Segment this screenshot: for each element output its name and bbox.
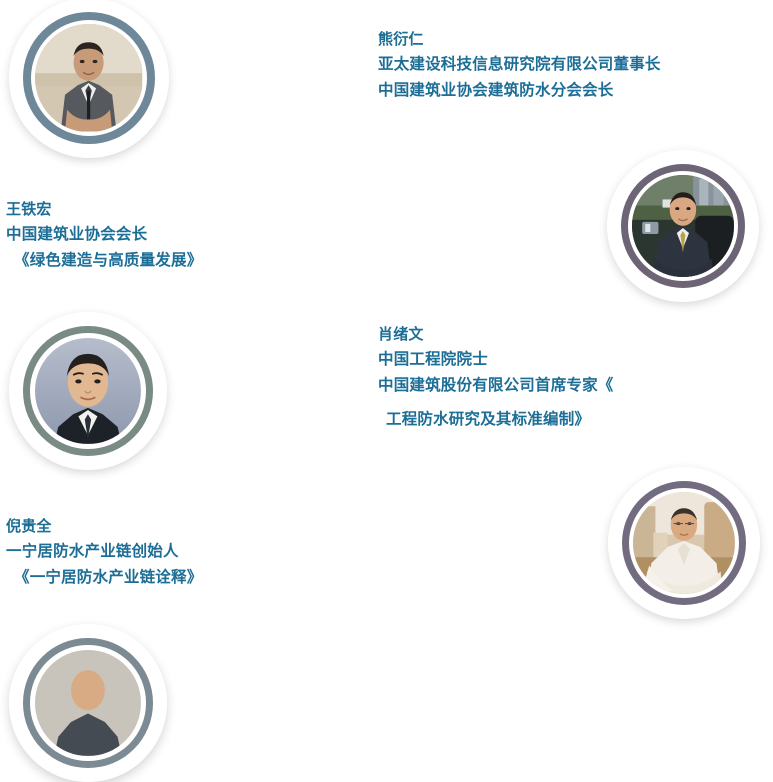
speaker-detail-line: 中国工程院院士 (378, 347, 614, 373)
speaker-name: 倪贵全 (6, 514, 202, 539)
speaker-name: 熊衍仁 (378, 27, 661, 52)
bio-xiong-yanren: 熊衍仁 亚太建设科技信息研究院有限公司董事长 中国建筑业协会建筑防水分会会长 (378, 27, 661, 104)
speaker-detail-line: 中国建筑业协会会长 (6, 222, 202, 248)
avatar-photo-xiong-yanren (632, 175, 734, 277)
speaker-list-page: 王铁宏 中国建筑业协会会长 《绿色建造与高质量发展》 熊衍仁 亚太建设科技信息研… (0, 0, 773, 633)
speaker-detail-line-2: 中国建筑业协会建筑防水分会会长 (378, 78, 661, 104)
speaker-name: 肖绪文 (378, 322, 614, 347)
bio-ni-guiquan: 倪贵全 一宁居防水产业链创始人 《一宁居防水产业链诠释》 (6, 514, 202, 591)
avatar-photo-next-speaker (35, 650, 141, 756)
avatar-photo-xiao-xuwen (35, 338, 141, 444)
bio-wang-tiehong: 王铁宏 中国建筑业协会会长 《绿色建造与高质量发展》 (6, 197, 202, 274)
speaker-topic-line-2: 工程防水研究及其标准编制》 (378, 399, 614, 441)
avatar-ni-guiquan[interactable] (608, 467, 760, 619)
speaker-detail-line: 亚太建设科技信息研究院有限公司董事长 (378, 52, 661, 78)
bio-xiao-xuwen: 肖绪文 中国工程院院士 中国建筑股份有限公司首席专家《 工程防水研究及其标准编制… (378, 322, 614, 441)
speaker-topic-line: 《一宁居防水产业链诠释》 (6, 565, 202, 591)
avatar-photo-wang-tiehong (35, 24, 142, 131)
avatar-photo-ni-guiquan (633, 492, 735, 594)
avatar-next-speaker-partial[interactable] (9, 624, 167, 782)
avatar-wang-tiehong[interactable] (9, 0, 169, 158)
speaker-detail-line: 一宁居防水产业链创始人 (6, 539, 202, 565)
avatar-xiao-xuwen[interactable] (9, 312, 167, 470)
speaker-topic-line: 中国建筑股份有限公司首席专家《 (378, 373, 614, 399)
speaker-topic-line: 《绿色建造与高质量发展》 (6, 248, 202, 274)
avatar-xiong-yanren[interactable] (607, 150, 759, 302)
speaker-name: 王铁宏 (6, 197, 202, 222)
